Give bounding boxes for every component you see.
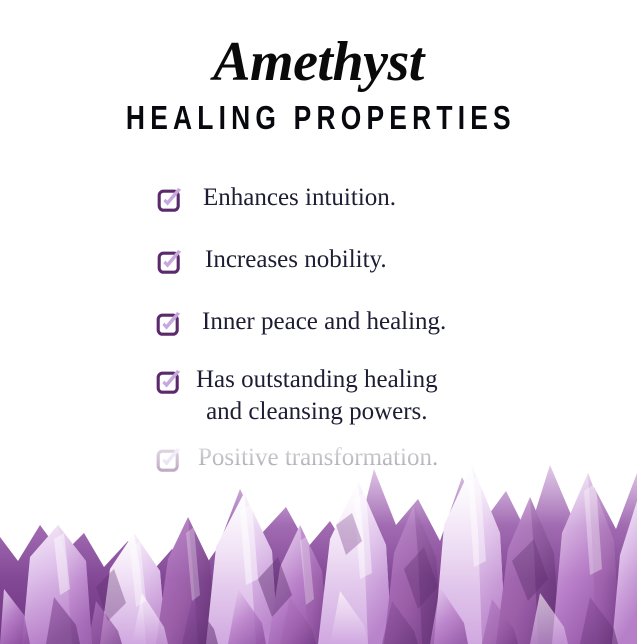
amethyst-healing-properties-poster: Amethyst HEALING PROPERTIES Enhances int… [0, 0, 637, 644]
list-item: Enhances intuition. [0, 182, 637, 214]
list-item: Inner peace and healing. [0, 306, 637, 338]
list-item: Increases nobility. [0, 244, 637, 276]
list-item-label: Inner peace and healing. [202, 306, 446, 338]
page-title: Amethyst [0, 34, 637, 91]
checkbox-checked-icon [156, 311, 182, 337]
poster-header: Amethyst HEALING PROPERTIES [0, 0, 637, 134]
page-subtitle: HEALING PROPERTIES [64, 101, 574, 134]
list-item-label: Has outstanding healing and cleansing po… [196, 364, 438, 428]
checkbox-checked-icon [157, 187, 183, 213]
list-item-label: Increases nobility. [205, 244, 387, 276]
checkbox-checked-icon [157, 249, 183, 275]
list-item-label: Enhances intuition. [203, 182, 396, 214]
amethyst-crystal-cluster-image [0, 429, 637, 644]
list-item: Has outstanding healing and cleansing po… [0, 364, 637, 428]
checkbox-checked-icon [156, 369, 182, 395]
